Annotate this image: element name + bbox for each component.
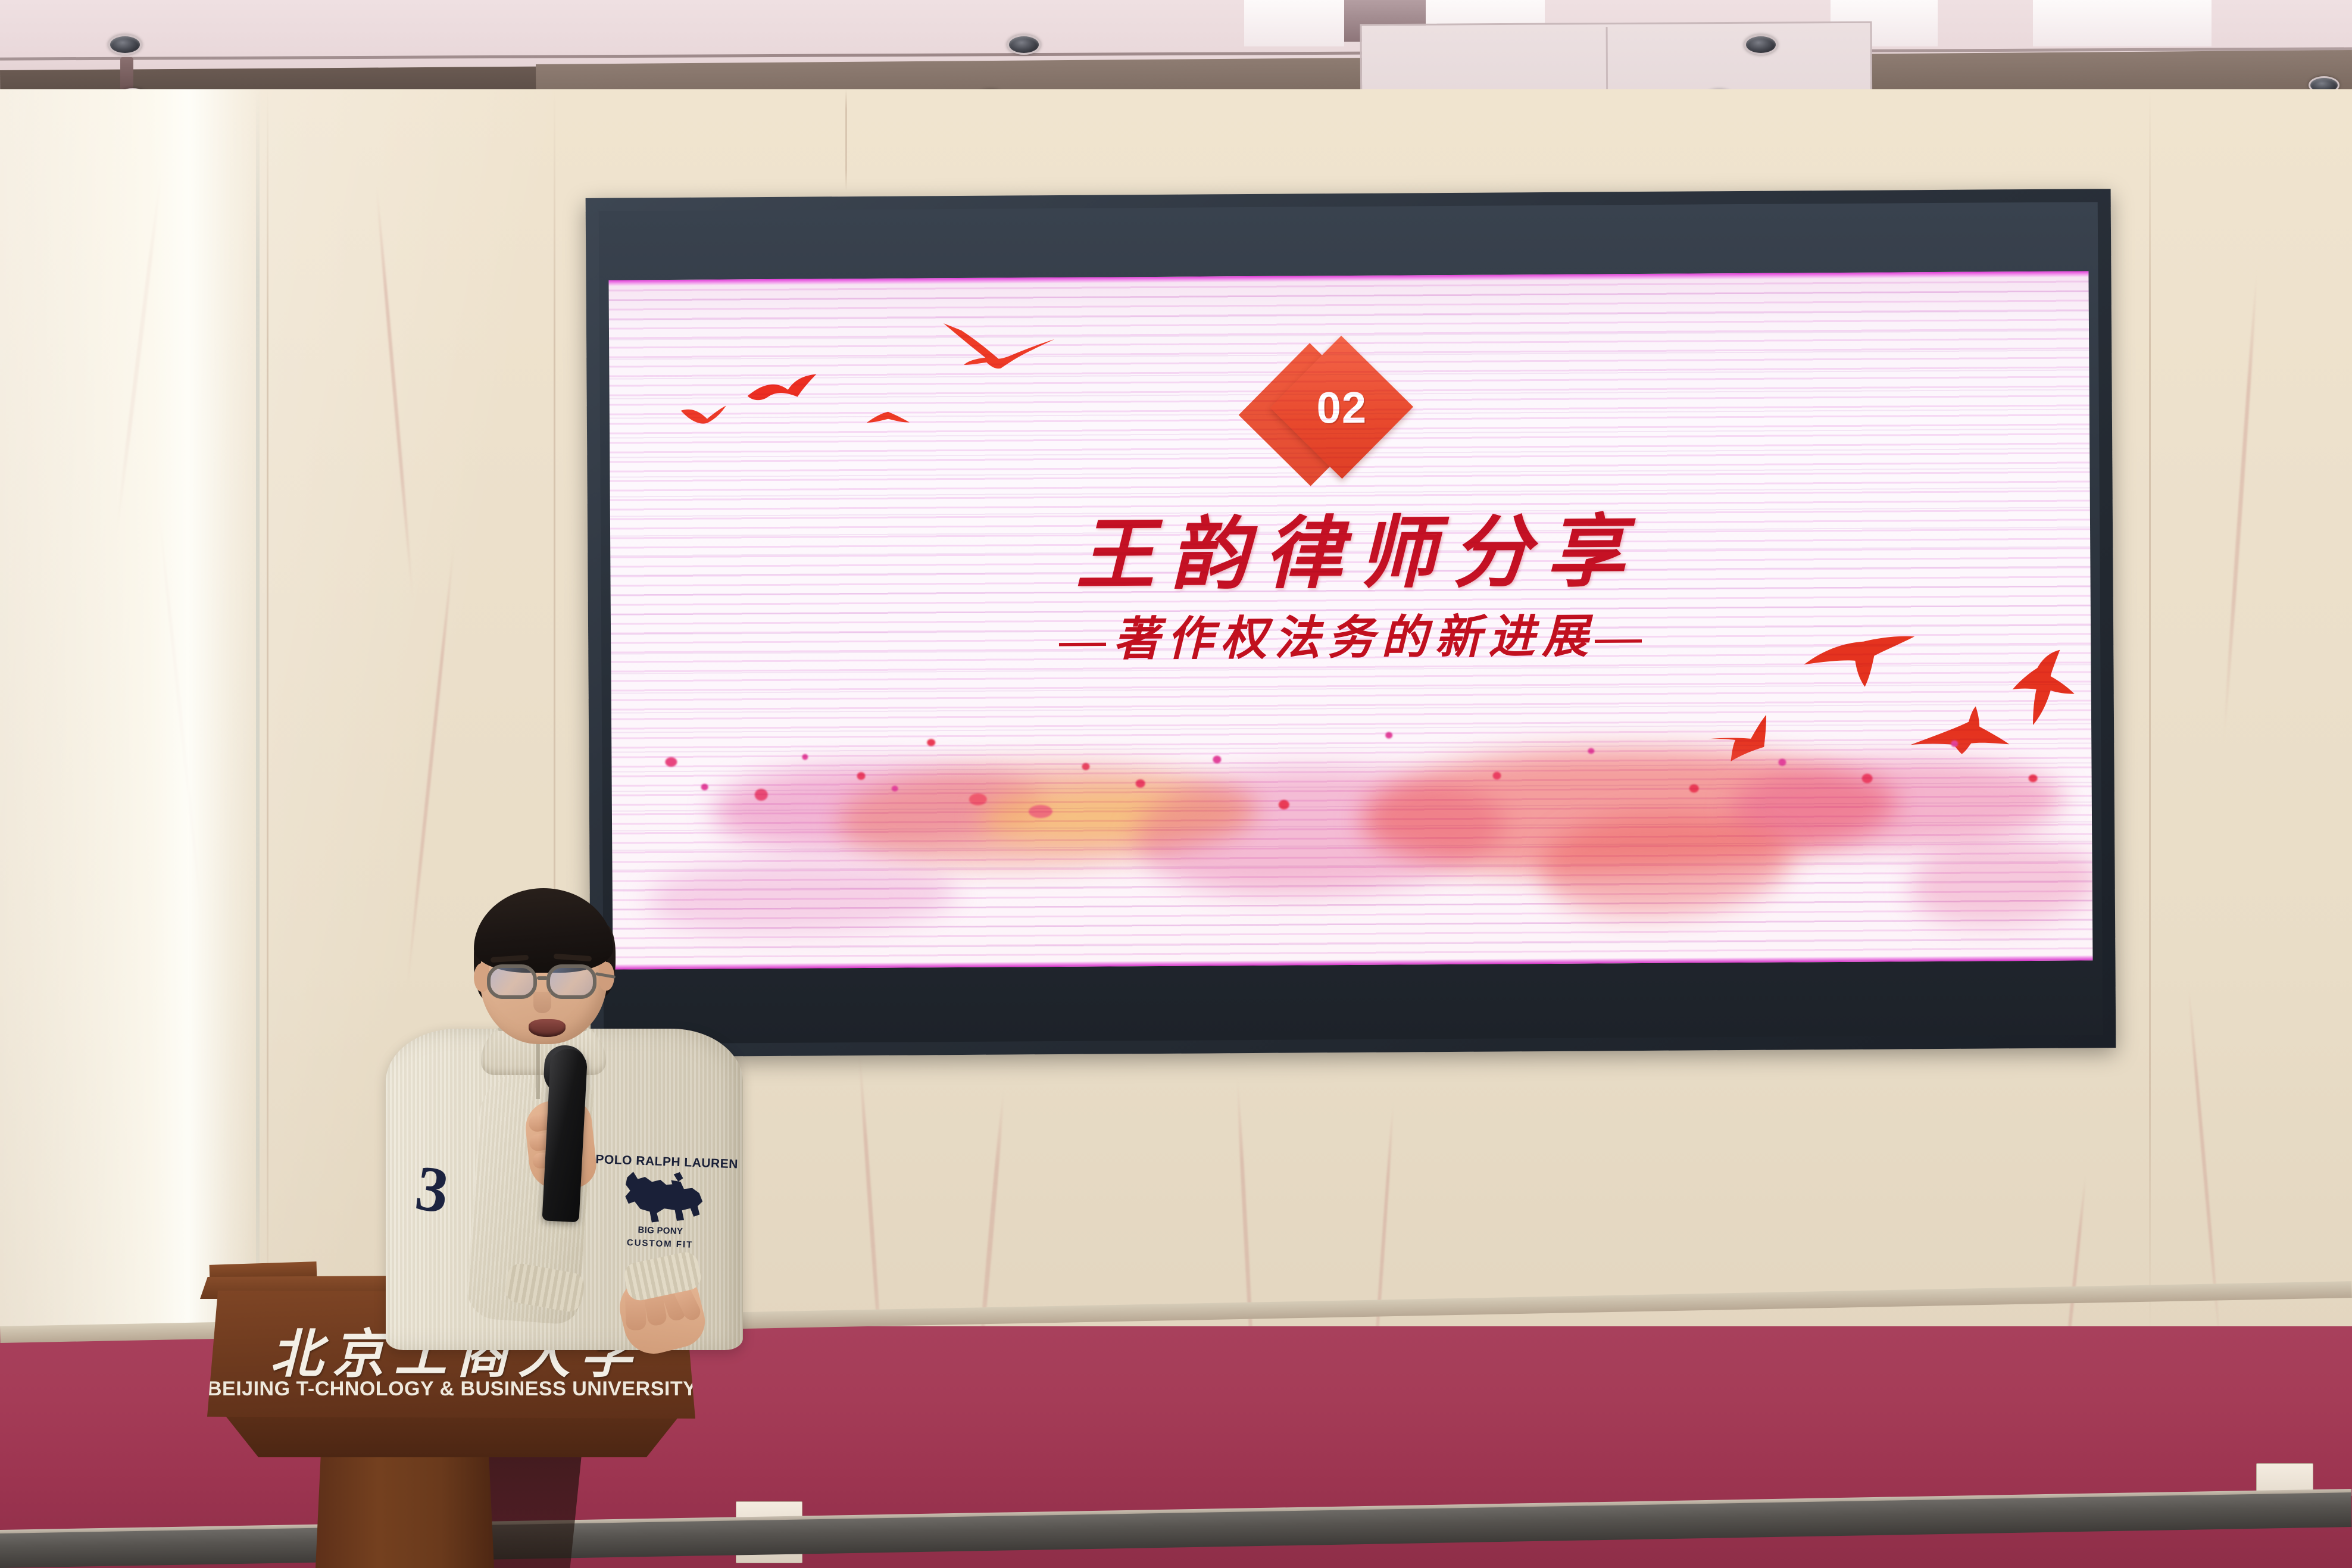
wall-panel-seam [845, 89, 847, 190]
ceiling-light-slot [2033, 0, 2212, 46]
ink-speck [1385, 732, 1392, 739]
podium-column [316, 1453, 494, 1568]
ink-speck [927, 739, 935, 746]
ink-speck [665, 757, 677, 767]
presentation-slide: 02 王韵律师分享 —著作权法务的新进展— [608, 271, 2092, 969]
wall-panel-seam [2149, 89, 2151, 1339]
ink-speck [1493, 771, 1501, 779]
eyeglasses-bridge [537, 976, 548, 980]
ink-speck [892, 786, 898, 792]
section-number-badge: 02 [1246, 345, 1425, 483]
ink-speck [1136, 779, 1145, 788]
ceiling-spotlight-icon [1744, 35, 1778, 55]
wash-blob [713, 764, 1047, 849]
ink-speck [1213, 755, 1221, 763]
wash-blob [1361, 747, 1898, 875]
brand-sub-label-2: CUSTOM FIT [592, 1236, 727, 1251]
ceiling-spotlight-icon [108, 35, 142, 55]
eyeglasses-icon [546, 964, 596, 999]
bird-icon [866, 411, 911, 431]
bird-icon [1801, 629, 1919, 695]
sweater-sleeve-number: 3 [399, 1151, 465, 1229]
ink-speck [1279, 800, 1289, 810]
ink-speck [857, 772, 866, 780]
speaker-mouth [529, 1019, 566, 1037]
ink-speck [701, 784, 708, 791]
ceiling-light-slot [1244, 0, 1344, 46]
speaker-person: 3 POLO RALPH LAUREN BIG PONY CUSTOM FIT [357, 875, 774, 1339]
podium-university-name-en: BEIJING T-CHNOLOGY & BUSINESS UNIVERSITY [207, 1378, 695, 1401]
bird-icon [680, 401, 751, 432]
wash-blob [1136, 767, 1505, 895]
wash-blob [1731, 758, 2064, 849]
ink-speck [802, 754, 808, 760]
wall-marble-vein [114, 168, 164, 535]
polo-ralph-lauren-logo: POLO RALPH LAUREN BIG PONY CUSTOM FIT [592, 1152, 730, 1254]
led-screen-panel[interactable]: 02 王韵律师分享 —著作权法务的新进展— [608, 271, 2092, 969]
wall-panel-seam [267, 89, 268, 1339]
speaker-nose [533, 992, 551, 1013]
bird-icon [746, 374, 835, 410]
wall-marble-vein [157, 507, 204, 922]
ink-speck [969, 794, 987, 805]
wall-column-edge [256, 89, 260, 1339]
eyeglasses-icon [487, 964, 537, 999]
ceiling-spotlight-icon [1007, 35, 1041, 55]
ink-speck [1862, 774, 1873, 783]
ink-speck [1588, 748, 1594, 754]
wall-marble-vein [375, 185, 415, 601]
wash-blob [1910, 841, 2092, 926]
watercolor-wash [611, 680, 2093, 969]
slide-title: 王韵律师分享 [610, 485, 2091, 608]
ink-speck [1689, 784, 1699, 792]
badge-number-label: 02 [1291, 357, 1392, 458]
ink-speck [2029, 774, 2038, 782]
ink-speck [755, 789, 768, 801]
wash-blob [838, 763, 1255, 867]
bird-icon [942, 321, 1056, 386]
bird-icon [2011, 650, 2077, 727]
polo-pony-icon [613, 1169, 712, 1227]
wash-blob [981, 786, 1255, 845]
bird-icon [1707, 714, 1779, 763]
bird-icon [1909, 706, 2010, 755]
ink-speck [1029, 805, 1052, 818]
ink-speck [1082, 763, 1089, 770]
speaker-half-zip [536, 1042, 540, 1099]
sprinkler-head-icon [120, 57, 133, 90]
led-screen-frame[interactable]: 02 王韵律师分享 —著作权法务的新进展— [586, 189, 2116, 1057]
wall-marble-vein [2222, 268, 2259, 744]
wash-blob [1541, 813, 1791, 916]
lecture-hall-scene: 02 王韵律师分享 —著作权法务的新进展— [0, 0, 2352, 1568]
